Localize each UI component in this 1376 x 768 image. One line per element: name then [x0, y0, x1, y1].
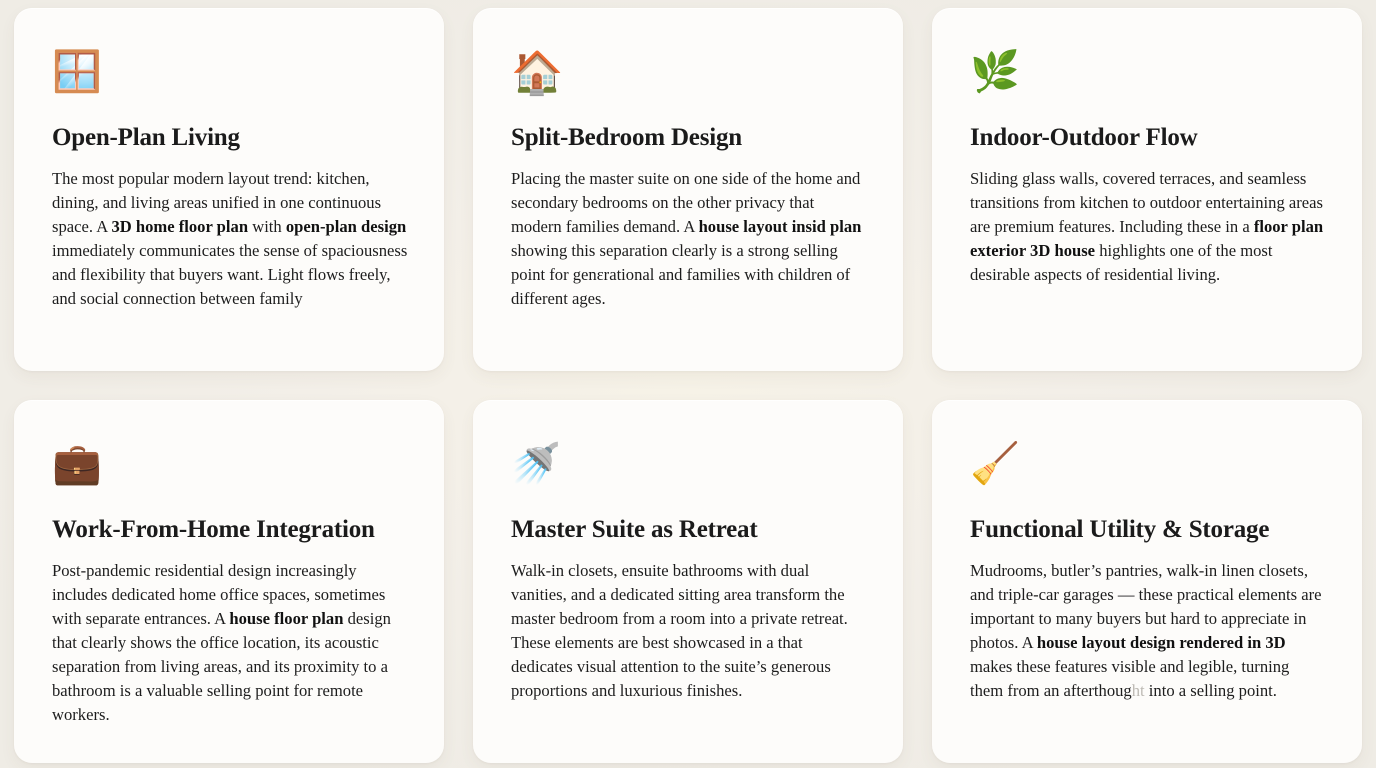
feature-card-work-from-home-integration[interactable]: 💼 Work-From-Home Integration Post-pandem…: [14, 400, 444, 763]
feature-card-grid: 🪟 Open-Plan Living The most popular mode…: [0, 0, 1376, 763]
feature-card-functional-utility-storage[interactable]: 🧹 Functional Utility & Storage Mudrooms,…: [932, 400, 1362, 763]
card-title: Split-Bedroom Design: [511, 124, 867, 153]
feature-card-open-plan-living[interactable]: 🪟 Open-Plan Living The most popular mode…: [14, 8, 444, 371]
herb-leaf-icon: 🌿: [970, 52, 1326, 104]
card-body: Placing the master suite on one side of …: [511, 167, 867, 311]
card-title: Master Suite as Retreat: [511, 516, 867, 545]
broom-brush-icon: 🧹: [970, 444, 1326, 496]
briefcase-icon: 💼: [52, 444, 408, 496]
card-body: Post-pandemic residential design increas…: [52, 559, 408, 727]
emphasis-text: house floor plan: [229, 609, 343, 628]
window-icon: 🪟: [52, 52, 408, 104]
feature-card-indoor-outdoor-flow[interactable]: 🌿 Indoor-Outdoor Flow Sliding glass wall…: [932, 8, 1362, 371]
emphasis-text: 3D home floor plan: [111, 217, 248, 236]
feature-card-split-bedroom-design[interactable]: 🏠 Split-Bedroom Design Placing the maste…: [473, 8, 903, 371]
emphasis-text: house layout design rendered in 3D: [1037, 633, 1286, 652]
card-title: Indoor-Outdoor Flow: [970, 124, 1326, 153]
card-body: Mudrooms, butler’s pantries, walk-in lin…: [970, 559, 1326, 703]
body-text: with: [248, 217, 286, 236]
body-text: Walk-in closets, ensuite bathrooms with …: [511, 561, 848, 700]
feature-card-master-suite-as-retreat[interactable]: 🚿 Master Suite as Retreat Walk-in closet…: [473, 400, 903, 763]
card-title: Work-From-Home Integration: [52, 516, 408, 545]
card-body: Sliding glass walls, covered terraces, a…: [970, 167, 1326, 287]
faded-text: ht: [1132, 681, 1145, 700]
shower-icon: 🚿: [511, 444, 867, 496]
body-text: into a selling point.: [1145, 681, 1277, 700]
card-body: Walk-in closets, ensuite bathrooms with …: [511, 559, 867, 703]
house-icon: 🏠: [511, 52, 867, 104]
card-title: Functional Utility & Storage: [970, 516, 1326, 545]
body-text: immediately communicates the sense of sp…: [52, 241, 407, 308]
emphasis-text: open-plan design: [286, 217, 406, 236]
card-body: The most popular modern layout trend: ki…: [52, 167, 408, 311]
card-title: Open-Plan Living: [52, 124, 408, 153]
emphasis-text: house layout insid plan: [699, 217, 862, 236]
body-text: showing this separation clearly is a str…: [511, 241, 850, 308]
